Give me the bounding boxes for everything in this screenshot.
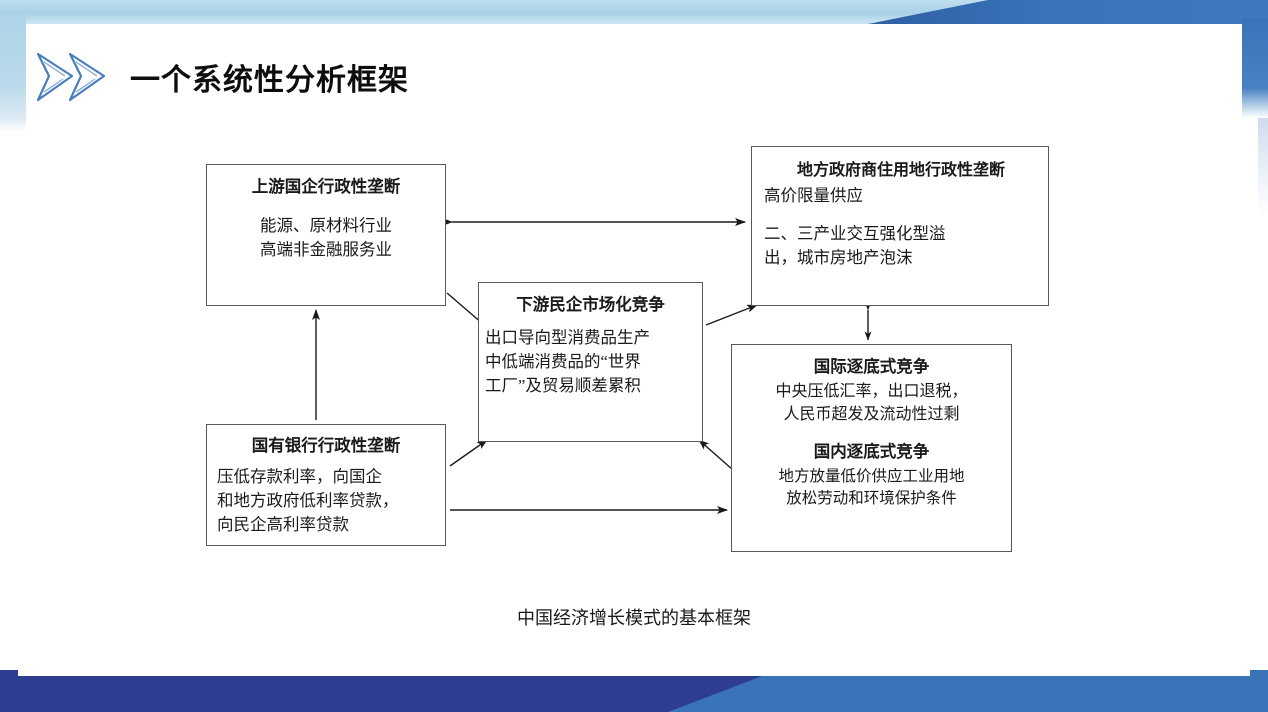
box-line: 和地方政府低利率贷款， [217,489,435,513]
box-line: 高价限量供应 [764,184,1038,208]
box-line: 人民币超发及流动性过剩 [740,403,1003,426]
box-line: 地方放量低价供应工业用地 [740,466,1003,488]
box-heading: 上游国企行政性垄断 [215,175,437,200]
box-line: 二、三产业交互强化型溢 [764,222,1038,246]
box-line: 放松劳动和环境保护条件 [740,488,1003,510]
box-heading: 国有银行行政性垄断 [217,434,435,459]
box-line: 高端非金融服务业 [215,238,437,262]
right-decoration-bar-fade [1258,118,1268,218]
right-decoration-bar [1242,18,1268,118]
box-line: 工厂”及贸易顺差累积 [485,374,696,398]
box-heading: 地方政府商住用地行政性垄断 [764,159,1038,183]
diagram-caption: 中国经济增长模式的基本框架 [0,604,1268,630]
box-heading: 国内逐底式竞争 [740,440,1003,465]
box-line: 中央压低汇率，出口退税， [740,380,1003,403]
box-heading: 国际逐底式竞争 [740,355,1003,380]
diagram-box-race-to-bottom: 国际逐底式竞争 中央压低汇率，出口退税， 人民币超发及流动性过剩 国内逐底式竞争… [731,344,1012,552]
box-line: 压低存款利率，向国企 [217,465,435,489]
box-line: 中低端消费品的“世界 [485,350,696,374]
box-line: 出口导向型消费品生产 [485,326,696,350]
box-heading: 下游民企市场化竞争 [485,293,696,318]
diagram-box-upstream-soe: 上游国企行政性垄断 能源、原材料行业 高端非金融服务业 [206,164,446,306]
diagram-box-state-banks: 国有银行行政性垄断 压低存款利率，向国企 和地方政府低利率贷款， 向民企高利率贷… [206,424,446,546]
page-title: 一个系统性分析框架 [130,55,409,99]
double-chevron-icon [34,50,118,104]
box-line: 能源、原材料行业 [215,214,437,238]
slide-canvas: 一个系统性分析框架 local gov land --> [0,0,1268,712]
bottom-white-gap [18,668,1250,676]
box-line: 向民企高利率贷款 [217,513,435,537]
box-line: 出，城市房地产泡沫 [764,246,1038,270]
slide-header: 一个系统性分析框架 [18,42,1018,112]
diagram-box-local-gov-land: 地方政府商住用地行政性垄断 高价限量供应 二、三产业交互强化型溢 出，城市房地产… [751,146,1049,306]
diagram-box-private-downstream: 下游民企市场化竞争 出口导向型消费品生产 中低端消费品的“世界 工厂”及贸易顺差… [478,282,703,442]
